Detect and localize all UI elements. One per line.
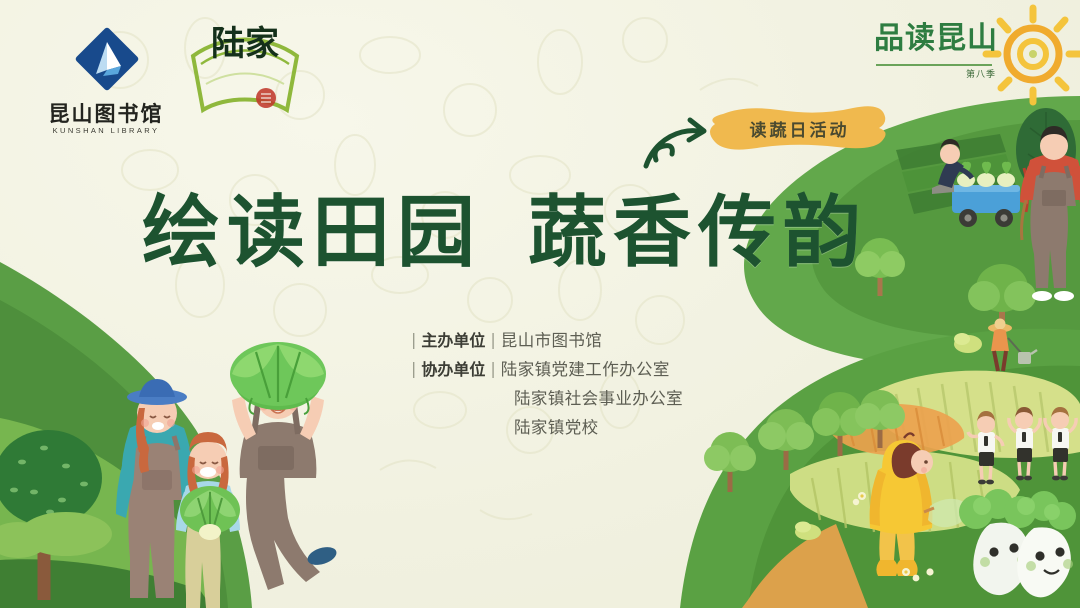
man-lifting-cabbage	[230, 342, 339, 590]
library-name-cn: 昆山图书馆	[36, 98, 176, 128]
credit-value-cohost-3: 陆家镇党校	[514, 414, 683, 438]
poster-root: 绘读田园 蔬香传韵 读蔬日活动 昆山图书馆 KUNSHAN LIBRARY 陆家	[0, 0, 1080, 608]
brand-pindu-kunshan: 品读昆山 第八季	[874, 24, 1004, 86]
farmer-red-shirt	[1020, 126, 1080, 301]
brand-season-label: 第八季	[966, 67, 996, 80]
credit-key-host-text: 主办单位	[421, 327, 485, 351]
activity-ribbon-label: 读蔬日活动	[717, 114, 882, 142]
credit-value-cohost: 陆家镇党建工作办公室	[501, 356, 670, 380]
bar-right-host: |	[485, 330, 500, 349]
curved-arrow-icon	[642, 110, 714, 172]
kunshan-library-logo: 昆山图书馆 KUNSHAN LIBRARY	[36, 26, 176, 152]
organizer-credits: | 主办单位 | 昆山市图书馆 | 协办单位 | 陆家镇党建工作办公室 陆家镇社…	[406, 327, 683, 443]
girl-yellow-raincoat	[853, 433, 967, 581]
bar-left-host: |	[406, 330, 421, 349]
title-line-b: 蔬香传韵	[528, 194, 868, 272]
brand-name-cn: 品读昆山	[874, 24, 1004, 54]
brand-underline	[876, 64, 992, 66]
three-children-waving	[968, 407, 1076, 484]
credit-key-host: | 主办单位 |	[406, 327, 501, 351]
credit-key-cohost-text: 协办单位	[421, 356, 485, 380]
bar-left-cohost: |	[406, 359, 421, 378]
poster-title: 绘读田园 蔬香传韵	[142, 178, 962, 288]
credit-value-host: 昆山市图书馆	[501, 327, 602, 351]
lujia-logo: 陆家	[183, 22, 307, 132]
library-name-en: KUNSHAN LIBRARY	[36, 126, 176, 135]
bar-right-cohost: |	[485, 359, 500, 378]
credit-value-cohost-2: 陆家镇社会事业办公室	[514, 385, 683, 409]
radish-mascots	[959, 489, 1076, 597]
library-diamond-icon	[74, 26, 140, 92]
title-line-a: 绘读田园	[142, 194, 482, 272]
credit-row-host: | 主办单位 | 昆山市图书馆	[406, 327, 683, 351]
woman-blue-hat	[116, 379, 196, 598]
credit-key-cohost: | 协办单位 |	[406, 356, 501, 380]
lujia-name-cn: 陆家	[183, 28, 307, 61]
credit-row-cohost: | 协办单位 | 陆家镇党建工作办公室	[406, 356, 683, 380]
